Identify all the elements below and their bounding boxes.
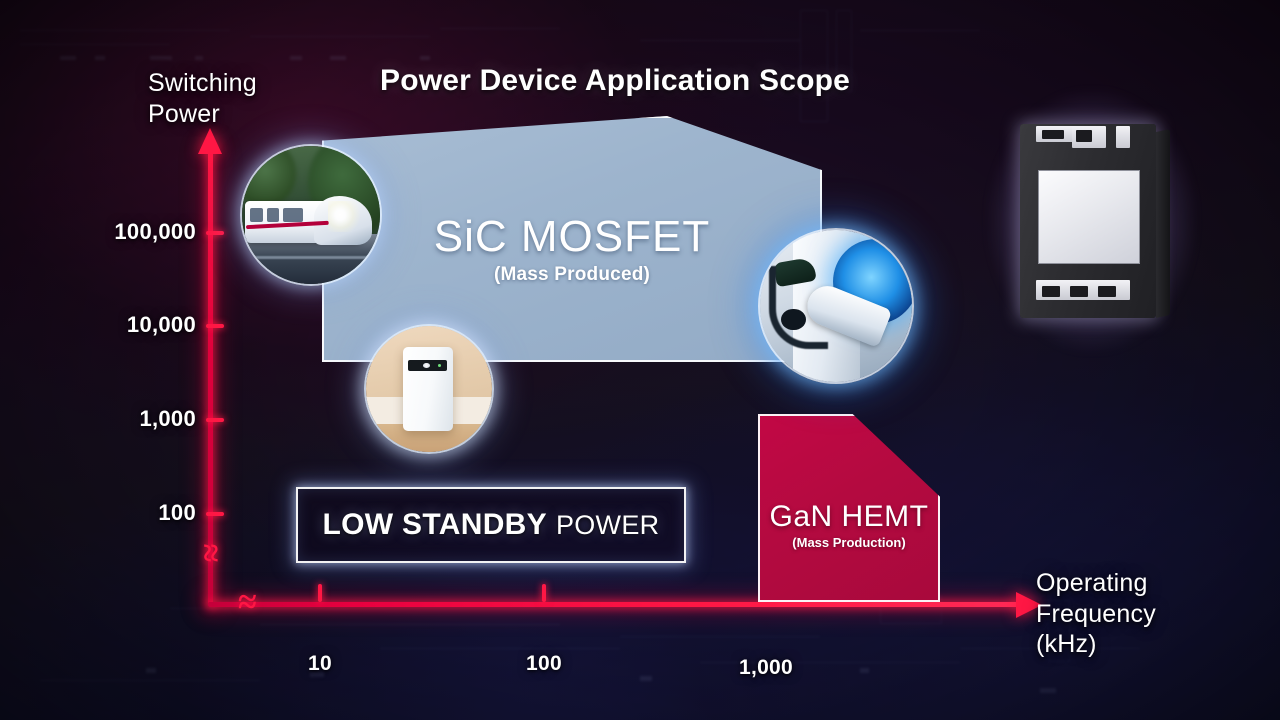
power-module-top-terminal-3 — [1116, 126, 1130, 148]
x-tick-label-10: 10 — [258, 652, 382, 676]
y-tick-1000 — [206, 418, 224, 422]
y-tick-100000 — [206, 231, 224, 235]
y-axis-arrow-icon — [198, 128, 222, 154]
y-tick-100 — [206, 512, 224, 516]
x-axis-title-line3: (kHz) — [1036, 629, 1266, 660]
power-module-bottom-slot-1 — [1042, 286, 1060, 297]
low-standby-power-label-bold: LOW STANDBY — [323, 508, 547, 541]
power-module-top-slot-1 — [1042, 130, 1064, 139]
low-standby-power-box[interactable]: LOW STANDBYPOWER — [296, 487, 686, 563]
low-standby-power-label: LOW STANDBYPOWER — [323, 508, 660, 542]
y-tick-10000 — [206, 324, 224, 328]
photo-high-speed-train[interactable] — [240, 144, 382, 286]
x-tick-100 — [542, 584, 546, 602]
y-axis-title-line1: Switching — [148, 68, 338, 99]
power-module-bottom-slot-3 — [1098, 286, 1116, 297]
power-module-label-face — [1038, 170, 1140, 264]
ev-plug-head — [781, 309, 805, 330]
y-axis-line — [208, 150, 213, 606]
y-tick-label-100: 100 — [44, 500, 196, 526]
y-axis-break-icon: ≈ — [192, 544, 226, 563]
photo-home-energy-storage[interactable] — [364, 324, 494, 454]
x-axis-line — [208, 602, 1020, 607]
slide-canvas: Power Device Application Scope Switching… — [0, 0, 1280, 720]
x-tick-label-1000: 1,000 — [704, 656, 828, 680]
y-tick-label-100000: 100,000 — [44, 219, 196, 245]
y-tick-label-1000: 1,000 — [44, 406, 196, 432]
x-axis-break-icon: ≈ — [238, 586, 257, 620]
train-window-2 — [267, 208, 279, 222]
y-axis-title-line2: Power — [148, 99, 338, 130]
power-module-side — [1156, 129, 1170, 318]
x-tick-label-100: 100 — [482, 652, 606, 676]
train-headlight — [328, 201, 364, 231]
x-axis-title: Operating Frequency (kHz) — [1036, 568, 1266, 660]
power-module-top-slot-2 — [1076, 130, 1092, 142]
power-module-bottom-slot-2 — [1070, 286, 1088, 297]
x-axis-title-line1: Operating — [1036, 568, 1266, 599]
y-tick-label-10000: 10,000 — [44, 312, 196, 338]
x-axis-title-line2: Frequency — [1036, 599, 1266, 630]
train-window-3 — [283, 208, 302, 222]
low-standby-power-label-light: POWER — [556, 510, 660, 540]
page-title: Power Device Application Scope — [380, 64, 880, 98]
power-module-device[interactable] — [1012, 112, 1172, 330]
train-rail — [242, 256, 380, 259]
photo-ev-charging[interactable] — [758, 228, 914, 384]
train-window-1 — [250, 208, 262, 222]
y-axis-title: Switching Power — [148, 68, 338, 129]
x-tick-10 — [318, 584, 322, 602]
